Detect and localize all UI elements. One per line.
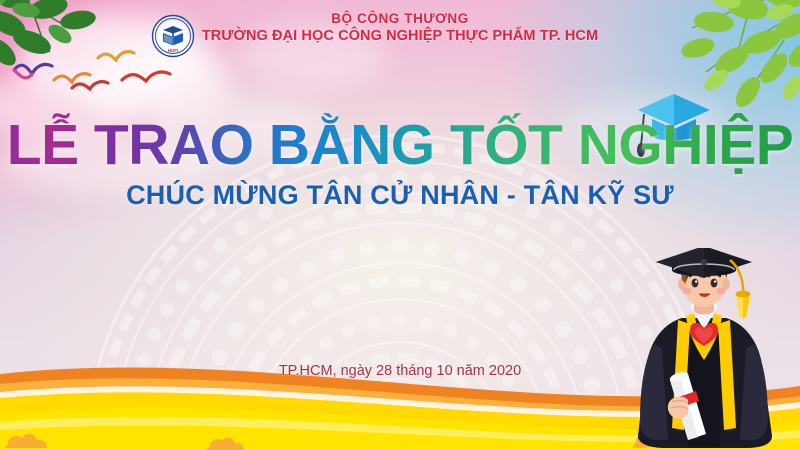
page-subtitle: CHÚC MỪNG TÂN CỬ NHÂN - TÂN KỸ SƯ xyxy=(0,180,800,211)
header-block: BỘ CÔNG THƯƠNG TRƯỜNG ĐẠI HỌC CÔNG NGHIỆ… xyxy=(0,10,800,46)
graduation-ceremony-banner: HUFI BỘ CÔNG THƯƠNG TRƯỜNG ĐẠI HỌC CÔNG … xyxy=(0,0,800,450)
event-date: TP.HCM, ngày 28 tháng 10 năm 2020 xyxy=(0,363,800,379)
university-seal-logo: HUFI xyxy=(151,14,195,58)
graduate-student-illustration xyxy=(610,248,800,450)
svg-text:HUFI: HUFI xyxy=(168,48,178,53)
university-name: TRƯỜNG ĐẠI HỌC CÔNG NGHIỆP THỰC PHẨM TP.… xyxy=(0,27,800,46)
ministry-name: BỘ CÔNG THƯƠNG xyxy=(0,10,800,27)
page-title: LỄ TRAO BẰNG TỐT NGHIỆP xyxy=(0,112,800,178)
